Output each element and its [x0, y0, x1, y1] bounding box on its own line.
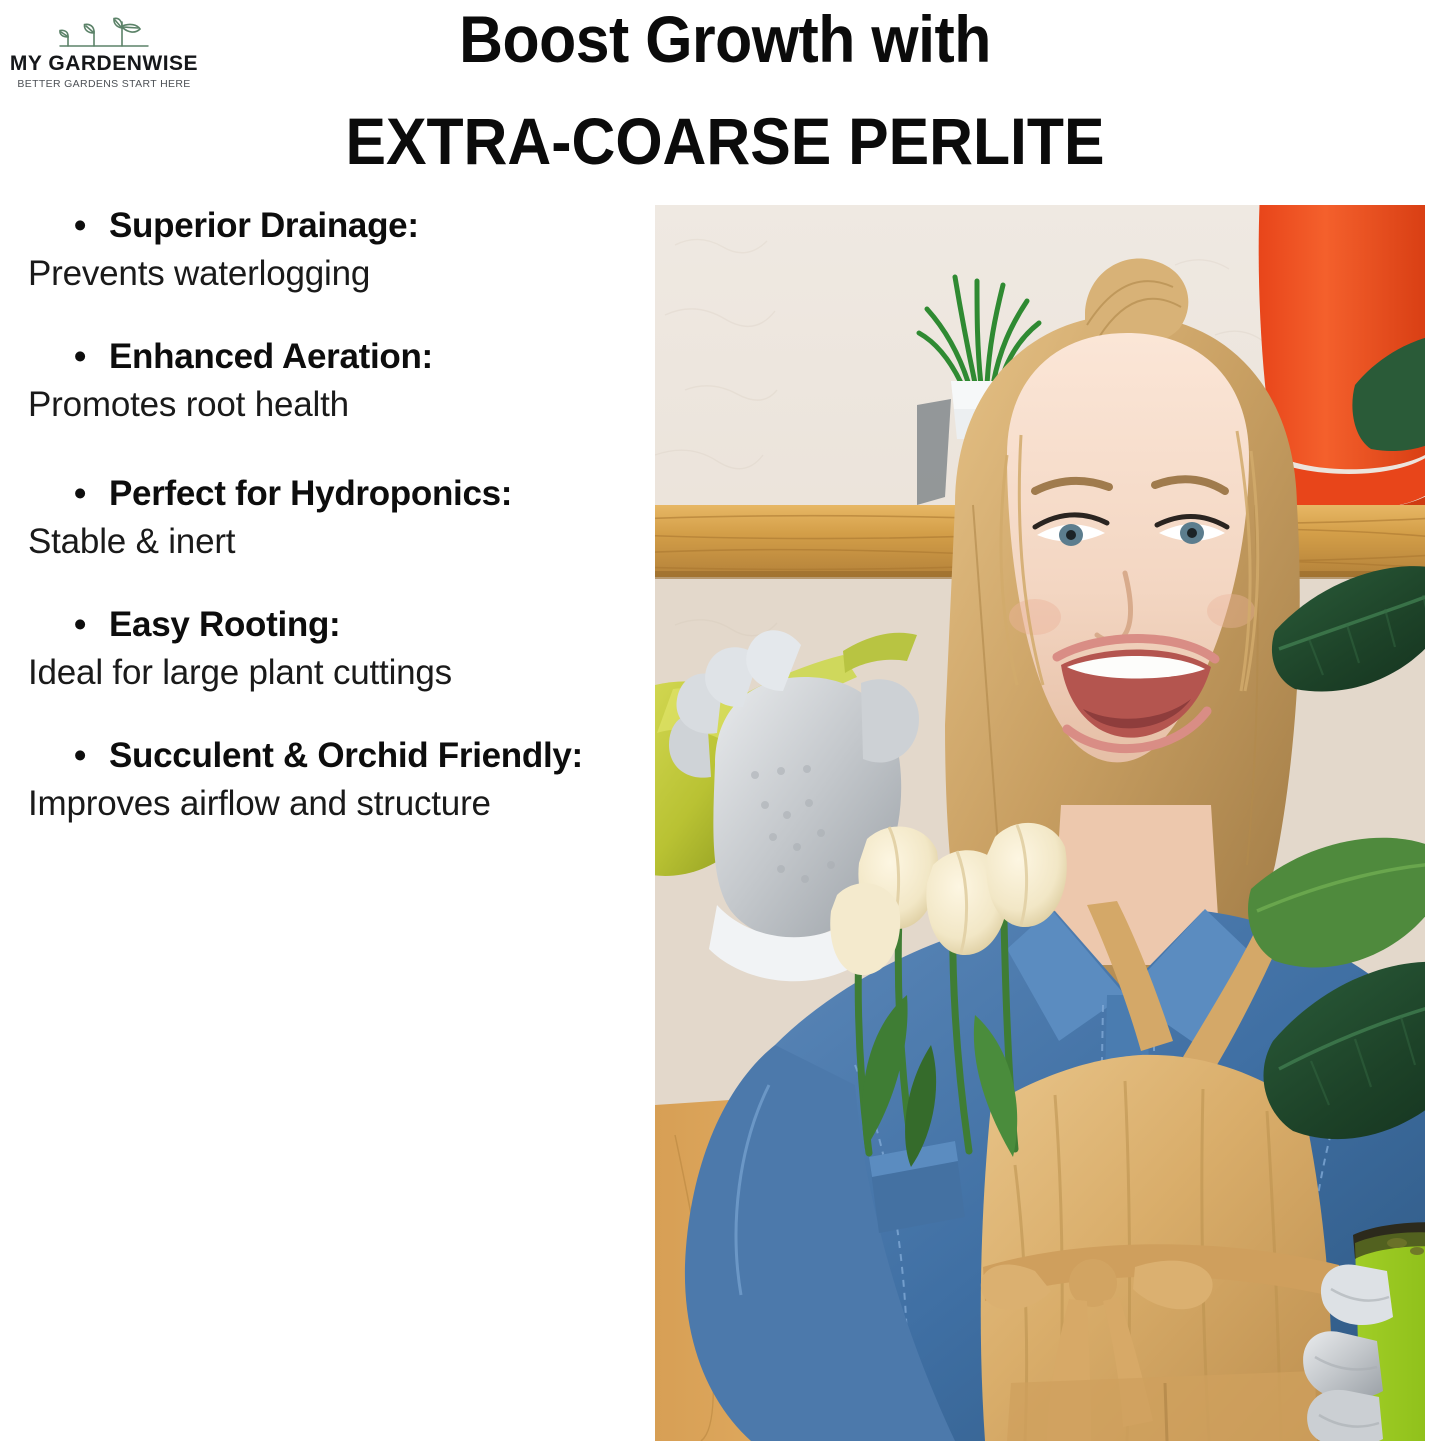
feature-list: • Superior Drainage: Prevents waterloggi… — [0, 204, 648, 827]
feature-item-enhanced-aeration: • Enhanced Aeration: Promotes root healt… — [0, 335, 648, 428]
product-lifestyle-photo — [655, 205, 1425, 1441]
feature-description: Improves airflow and structure — [0, 781, 648, 827]
bullet-icon: • — [74, 335, 109, 379]
feature-item-succulent-orchid-friendly: • Succulent & Orchid Friendly: Improves … — [0, 734, 648, 827]
three-sprouts-icon — [4, 6, 204, 52]
bullet-icon: • — [74, 204, 109, 248]
bullet-icon: • — [74, 603, 109, 647]
feature-description: Ideal for large plant cuttings — [0, 650, 648, 696]
bullet-icon: • — [74, 734, 109, 778]
feature-description: Stable & inert — [0, 519, 648, 565]
headline-line-2: EXTRA-COARSE PERLITE — [247, 102, 1204, 180]
feature-heading-row: • Succulent & Orchid Friendly: — [0, 734, 648, 778]
feature-heading: Perfect for Hydroponics: — [109, 472, 648, 516]
feature-item-easy-rooting: • Easy Rooting: Ideal for large plant cu… — [0, 603, 648, 696]
page-title: Boost Growth with EXTRA-COARSE PERLITE — [205, 0, 1245, 180]
feature-heading-row: • Perfect for Hydroponics: — [0, 472, 648, 516]
feature-heading-row: • Easy Rooting: — [0, 603, 648, 647]
feature-description: Promotes root health — [0, 382, 648, 428]
feature-heading: Succulent & Orchid Friendly: — [109, 734, 648, 778]
feature-heading: Easy Rooting: — [109, 603, 648, 647]
brand-logo: MY GARDENWISE BETTER GARDENS START HERE — [4, 6, 204, 94]
photo-illustration — [655, 205, 1425, 1441]
headline-line-1: Boost Growth with — [247, 0, 1204, 78]
feature-heading: Superior Drainage: — [109, 204, 648, 248]
brand-tagline: BETTER GARDENS START HERE — [4, 79, 204, 90]
bullet-icon: • — [74, 472, 109, 516]
feature-description: Prevents waterlogging — [0, 251, 648, 297]
feature-item-perfect-for-hydroponics: • Perfect for Hydroponics: Stable & iner… — [0, 472, 648, 565]
brand-name: MY GARDENWISE — [4, 53, 204, 74]
feature-heading-row: • Enhanced Aeration: — [0, 335, 648, 379]
feature-item-superior-drainage: • Superior Drainage: Prevents waterloggi… — [0, 204, 648, 297]
feature-heading: Enhanced Aeration: — [109, 335, 648, 379]
feature-heading-row: • Superior Drainage: — [0, 204, 648, 248]
